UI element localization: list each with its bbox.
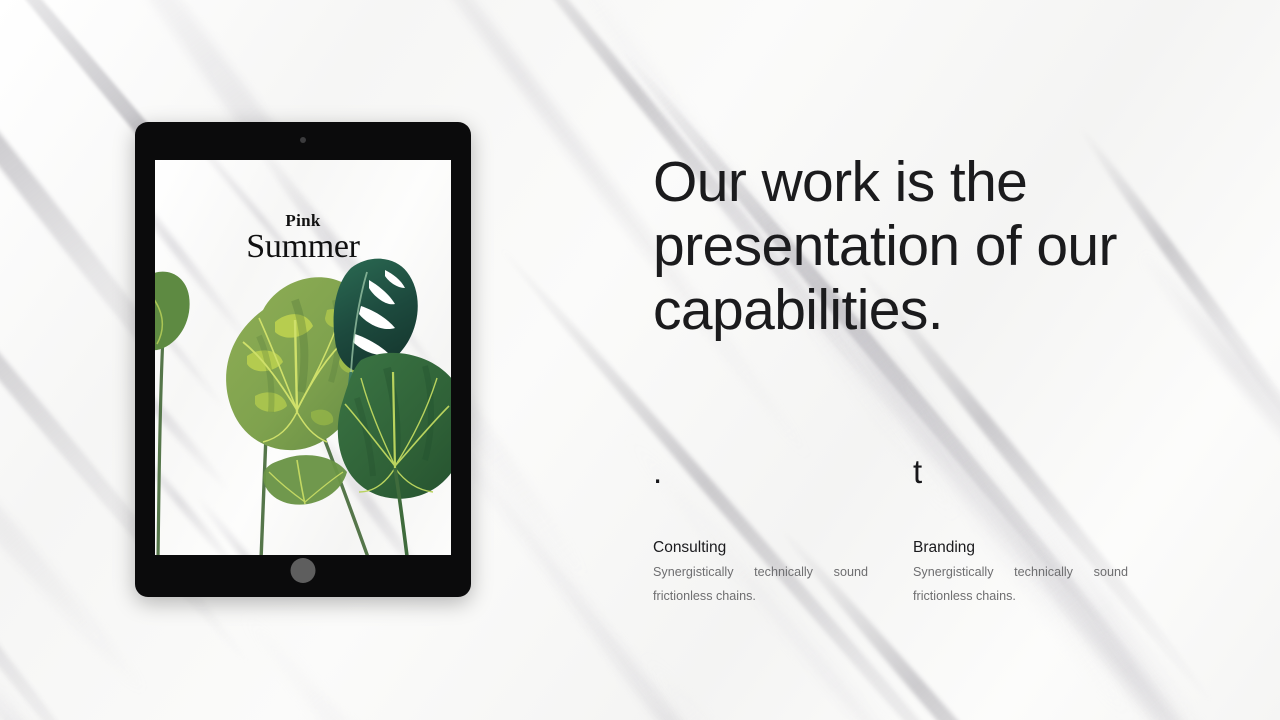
tablet-mockup: Pink Summer — [135, 122, 471, 597]
page-title: Our work is the presentation of our capa… — [653, 150, 1173, 342]
feature-description-consulting: Synergistically technically sound fricti… — [653, 560, 868, 608]
poster-title: Pink Summer — [155, 212, 451, 265]
slide-canvas: Pink Summer Our work is the presentation… — [0, 0, 1280, 720]
features-row: . Consulting Synergistically technically… — [653, 452, 1173, 608]
feature-consulting: . Consulting Synergistically technically… — [653, 452, 913, 608]
content-column: Our work is the presentation of our capa… — [653, 0, 1213, 720]
t-glyph-icon: t — [913, 452, 1173, 494]
feature-description-branding: Synergistically technically sound fricti… — [913, 560, 1128, 608]
feature-title-branding: Branding — [913, 538, 1173, 558]
tablet-screen: Pink Summer — [155, 160, 451, 555]
camera-icon — [300, 137, 306, 143]
home-button[interactable] — [291, 558, 316, 583]
feature-title-consulting: Consulting — [653, 538, 913, 558]
feature-branding: t Branding Synergistically technically s… — [913, 452, 1173, 608]
poster-main-title: Summer — [155, 229, 451, 265]
dot-icon: . — [653, 452, 913, 494]
